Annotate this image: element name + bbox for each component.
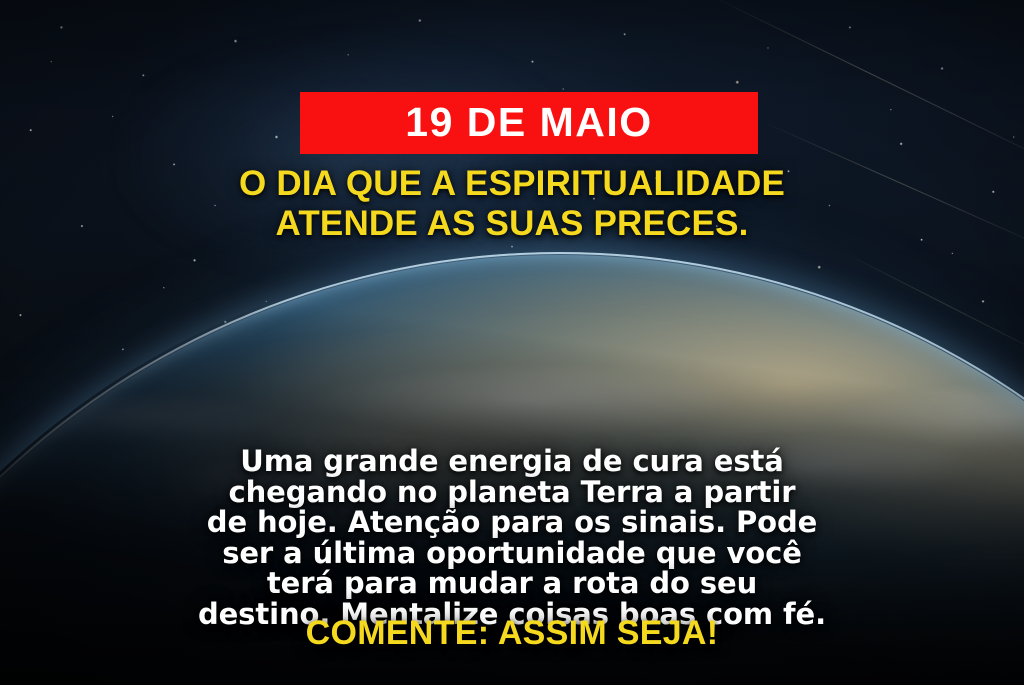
call-to-action-text: COMENTE: ASSIM SEJA! [0,613,1024,653]
headline: O DIA QUE A ESPIRITUALIDADE ATENDE AS SU… [0,164,1024,244]
body-line-5: terá para mudar a rota do seu [0,568,1024,599]
poster-content: 19 DE MAIO O DIA QUE A ESPIRITUALIDADE A… [0,0,1024,685]
body-paragraph: Uma grande energia de cura está chegando… [0,446,1024,629]
poster-canvas: 19 DE MAIO O DIA QUE A ESPIRITUALIDADE A… [0,0,1024,685]
body-line-4: ser a última oportunidade que você [0,538,1024,569]
body-line-3: de hoje. Atenção para os sinais. Pode [0,507,1024,538]
headline-line-1: O DIA QUE A ESPIRITUALIDADE [0,164,1024,204]
body-line-2: chegando no planeta Terra a partir [0,477,1024,508]
body-line-1: Uma grande energia de cura está [0,446,1024,477]
date-banner-text: 19 DE MAIO [405,102,652,145]
date-banner: 19 DE MAIO [300,92,758,154]
headline-line-2: ATENDE AS SUAS PRECES. [0,204,1024,244]
